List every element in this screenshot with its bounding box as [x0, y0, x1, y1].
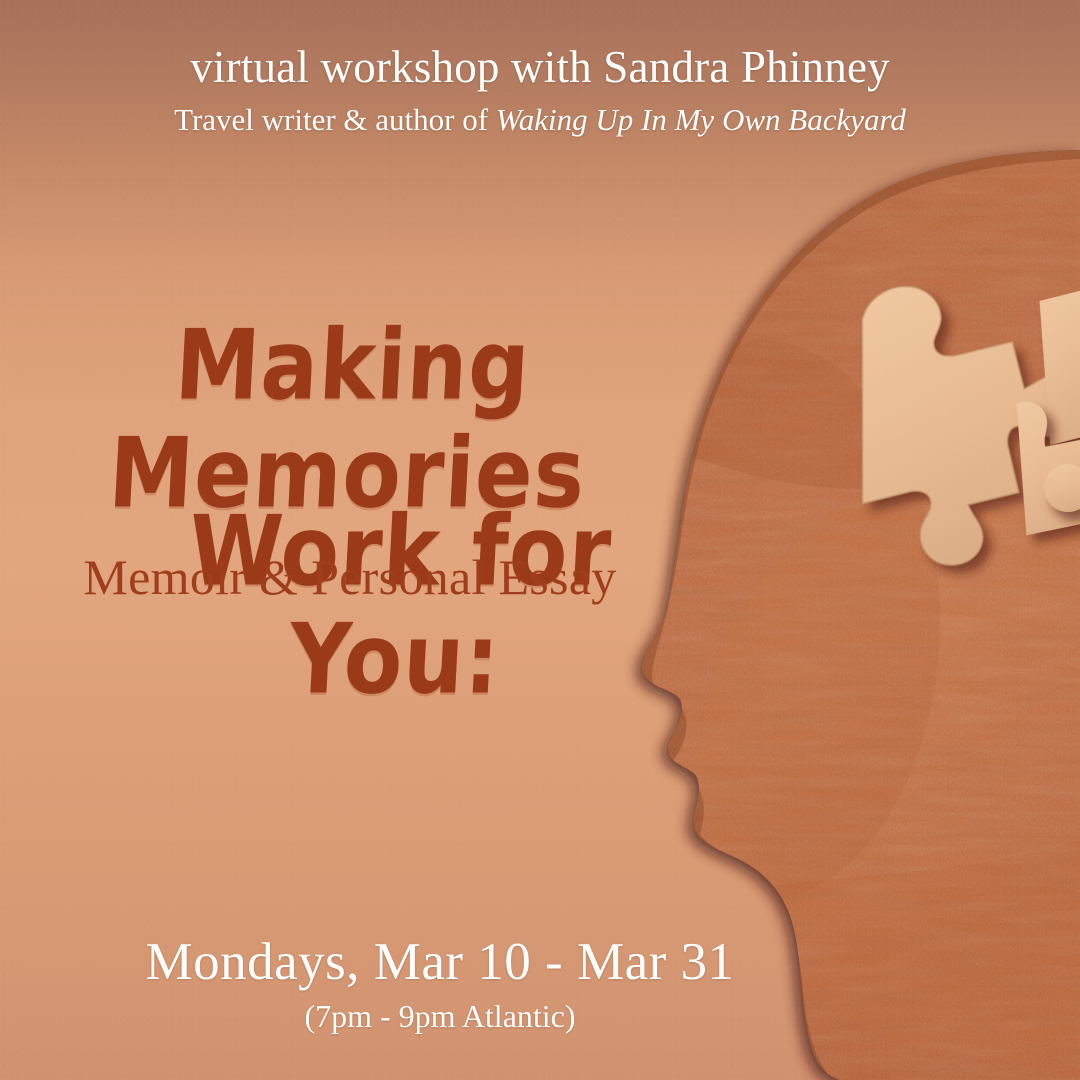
page-title: Making Memories Work for You:: [0, 325, 700, 702]
header-line-presenter: virtual workshop with Sandra Phinney: [0, 44, 1080, 91]
header-line-credit: Travel writer & author of Waking Up In M…: [0, 104, 1080, 137]
subtitle: Memoir & Personal Essay: [0, 548, 700, 606]
workshop-poster: virtual workshop with Sandra Phinney Tra…: [0, 0, 1080, 1080]
credit-prefix: Travel writer & author of: [174, 102, 496, 137]
title-line-2: Work for You:: [0, 498, 706, 715]
schedule-time: (7pm - 9pm Atlantic): [0, 998, 880, 1035]
book-title: Waking Up In My Own Backyard: [496, 102, 906, 137]
schedule-dates: Mondays, Mar 10 - Mar 31: [0, 932, 880, 992]
